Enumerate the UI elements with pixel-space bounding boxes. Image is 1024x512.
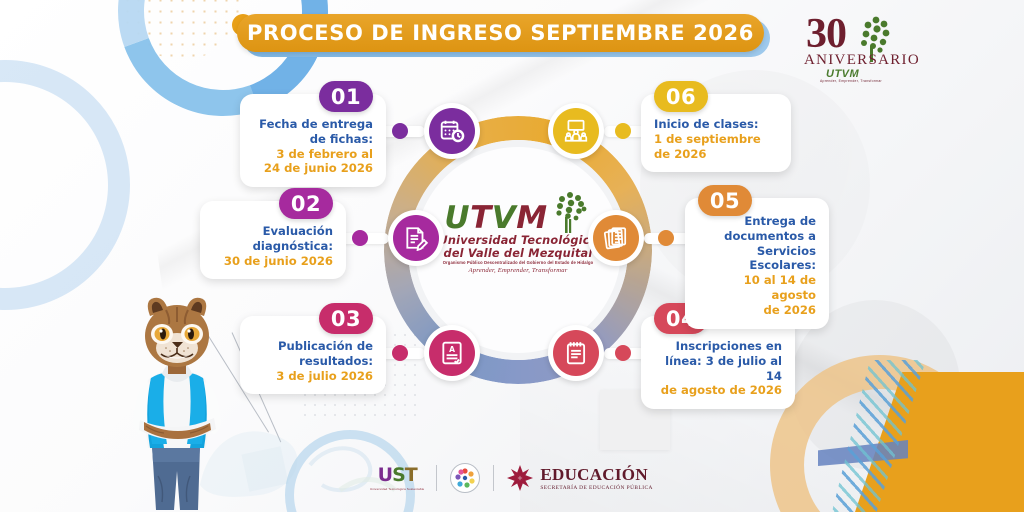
step-icon-disc-06 (553, 108, 599, 154)
ust-letter-u: U (378, 464, 392, 486)
educacion-title: EDUCACIÓN (540, 466, 653, 483)
connector-dot-02 (352, 230, 368, 246)
blue-arc-left (0, 60, 130, 310)
utvm-letter-u: U (444, 203, 468, 234)
utvm-letter-v: V (492, 203, 515, 234)
step-icon-disc-05 (593, 215, 639, 261)
notepad-icon (563, 340, 589, 366)
step-heading-03: Publicación de resultados: (253, 339, 373, 369)
step-node-04[interactable] (548, 325, 604, 381)
step-node-05[interactable] (588, 210, 644, 266)
utvm-acronym-row: U T V M (444, 190, 591, 234)
educacion-subtitle: SECRETARÍA DE EDUCACIÓN PÚBLICA (540, 485, 653, 491)
grade-sheet-icon: A (439, 340, 465, 366)
step-icon-disc-04 (553, 330, 599, 376)
classroom-icon (563, 118, 589, 144)
step-node-03[interactable]: A (424, 325, 480, 381)
step-card-05[interactable]: 05 Entrega de documentos a Servicios Esc… (685, 198, 829, 329)
dot-pattern-top-left (122, 0, 242, 60)
infographic-canvas: PROCESO DE INGRESO SEPTIEMBRE 2026 30 AN… (0, 0, 1024, 512)
step-heading-01: Fecha de entrega de fichas: (253, 117, 373, 147)
step-card-06[interactable]: 06 Inicio de clases: 1 de septiembre de … (641, 94, 791, 172)
ust-logo: UST Universidad Tecnológica Sustentable (370, 466, 424, 491)
step-date-01: 3 de febrero al 24 de junio 2026 (253, 147, 373, 177)
ust-letter-t: T (405, 464, 417, 486)
utvm-org-text: Organismo Público Descentralizado del Go… (443, 260, 594, 265)
footer-logos: UST Universidad Tecnológica Sustentable (370, 462, 653, 494)
step-card-03[interactable]: 03 Publicación de resultados: 3 de julio… (240, 316, 386, 394)
footer-divider-1 (436, 465, 437, 491)
utvm-letter-m: M (516, 203, 545, 234)
step-date-02: 30 de junio 2026 (213, 254, 333, 269)
step-date-05: 10 al 14 de agosto de 2026 (698, 273, 816, 317)
step-icon-disc-03: A (429, 330, 475, 376)
step-badge-06: 06 (654, 81, 708, 112)
puma-mascot (118, 296, 236, 512)
utvm-name-line2: del Valle del Mezquital (444, 247, 593, 260)
step-card-04[interactable]: 04 Inscripciones en línea: 3 de julio al… (641, 316, 795, 409)
connector-dot-01 (392, 123, 408, 139)
step-node-06[interactable] (548, 103, 604, 159)
anniversary-number: 30 (806, 10, 846, 58)
connector-dot-05 (658, 230, 674, 246)
document-pencil-icon (403, 225, 429, 251)
step-badge-01: 01 (319, 81, 373, 112)
step-badge-05: 05 (698, 185, 752, 216)
anniversary-word: ANIVERSARIO (804, 52, 920, 69)
documents-stack-icon (603, 225, 629, 251)
step-node-01[interactable] (424, 103, 480, 159)
connector-dot-06 (615, 123, 631, 139)
utvm-motto: Aprender, Emprender, Transformar (469, 267, 568, 274)
utvm-letter-t: T (470, 203, 490, 234)
page-title: PROCESO DE INGRESO SEPTIEMBRE 2026 (237, 14, 764, 52)
step-card-01[interactable]: 01 Fecha de entrega de fichas: 3 de febr… (240, 94, 386, 187)
step-badge-02: 02 (279, 188, 333, 219)
step-heading-04: Inscripciones en línea: 3 de julio al 14 (654, 339, 782, 383)
step-heading-06: Inicio de clases: (654, 117, 778, 132)
step-icon-disc-01 (429, 108, 475, 154)
utvm-tree-icon (548, 190, 592, 236)
svg-text:A: A (449, 345, 455, 354)
anniversary-logo: 30 ANIVERSARIO UTVM Aprender, Emprender,… (800, 8, 920, 86)
step-icon-disc-02 (393, 215, 439, 261)
ust-acronym: UST (378, 466, 417, 485)
educacion-logo: EDUCACIÓN SECRETARÍA DE EDUCACIÓN PÚBLIC… (506, 464, 653, 492)
orange-block-bottom-right (855, 372, 1024, 512)
step-date-06: 1 de septiembre de 2026 (654, 132, 778, 162)
sep-flower-icon (506, 464, 534, 492)
anniversary-subtitle: Aprender, Emprender, Transformar (820, 79, 882, 83)
step-card-02[interactable]: 02 Evaluación diagnóstica: 30 de junio 2… (200, 201, 346, 279)
step-date-04: de agosto de 2026 (654, 383, 782, 398)
calendar-clock-icon (439, 118, 465, 144)
title-pill: PROCESO DE INGRESO SEPTIEMBRE 2026 (237, 14, 764, 52)
connector-dot-03 (392, 345, 408, 361)
utvm-name-line1: Universidad Tecnológica (439, 234, 598, 247)
step-badge-03: 03 (319, 303, 373, 334)
connector-dot-04 (615, 345, 631, 361)
step-node-02[interactable] (388, 210, 444, 266)
blue-band-bottom-right (818, 440, 908, 466)
title-text: PROCESO DE INGRESO SEPTIEMBRE 2026 (247, 21, 754, 45)
step-heading-02: Evaluación diagnóstica: (213, 224, 333, 254)
diagonal-stripes-bottom-right (830, 360, 1024, 512)
footer-divider-2 (493, 465, 494, 491)
orange-arc-bottom-right (770, 355, 990, 512)
step-date-03: 3 de julio 2026 (253, 369, 373, 384)
step-heading-05: Entrega de documentos a Servicios Escola… (698, 214, 816, 273)
utvm-logo: U T V M Universidad Tecnológica del Val (436, 172, 600, 292)
ust-subtitle: Universidad Tecnológica Sustentable (370, 487, 424, 491)
hidalgo-emblem-icon (449, 462, 481, 494)
ust-letter-s: S (392, 464, 405, 486)
